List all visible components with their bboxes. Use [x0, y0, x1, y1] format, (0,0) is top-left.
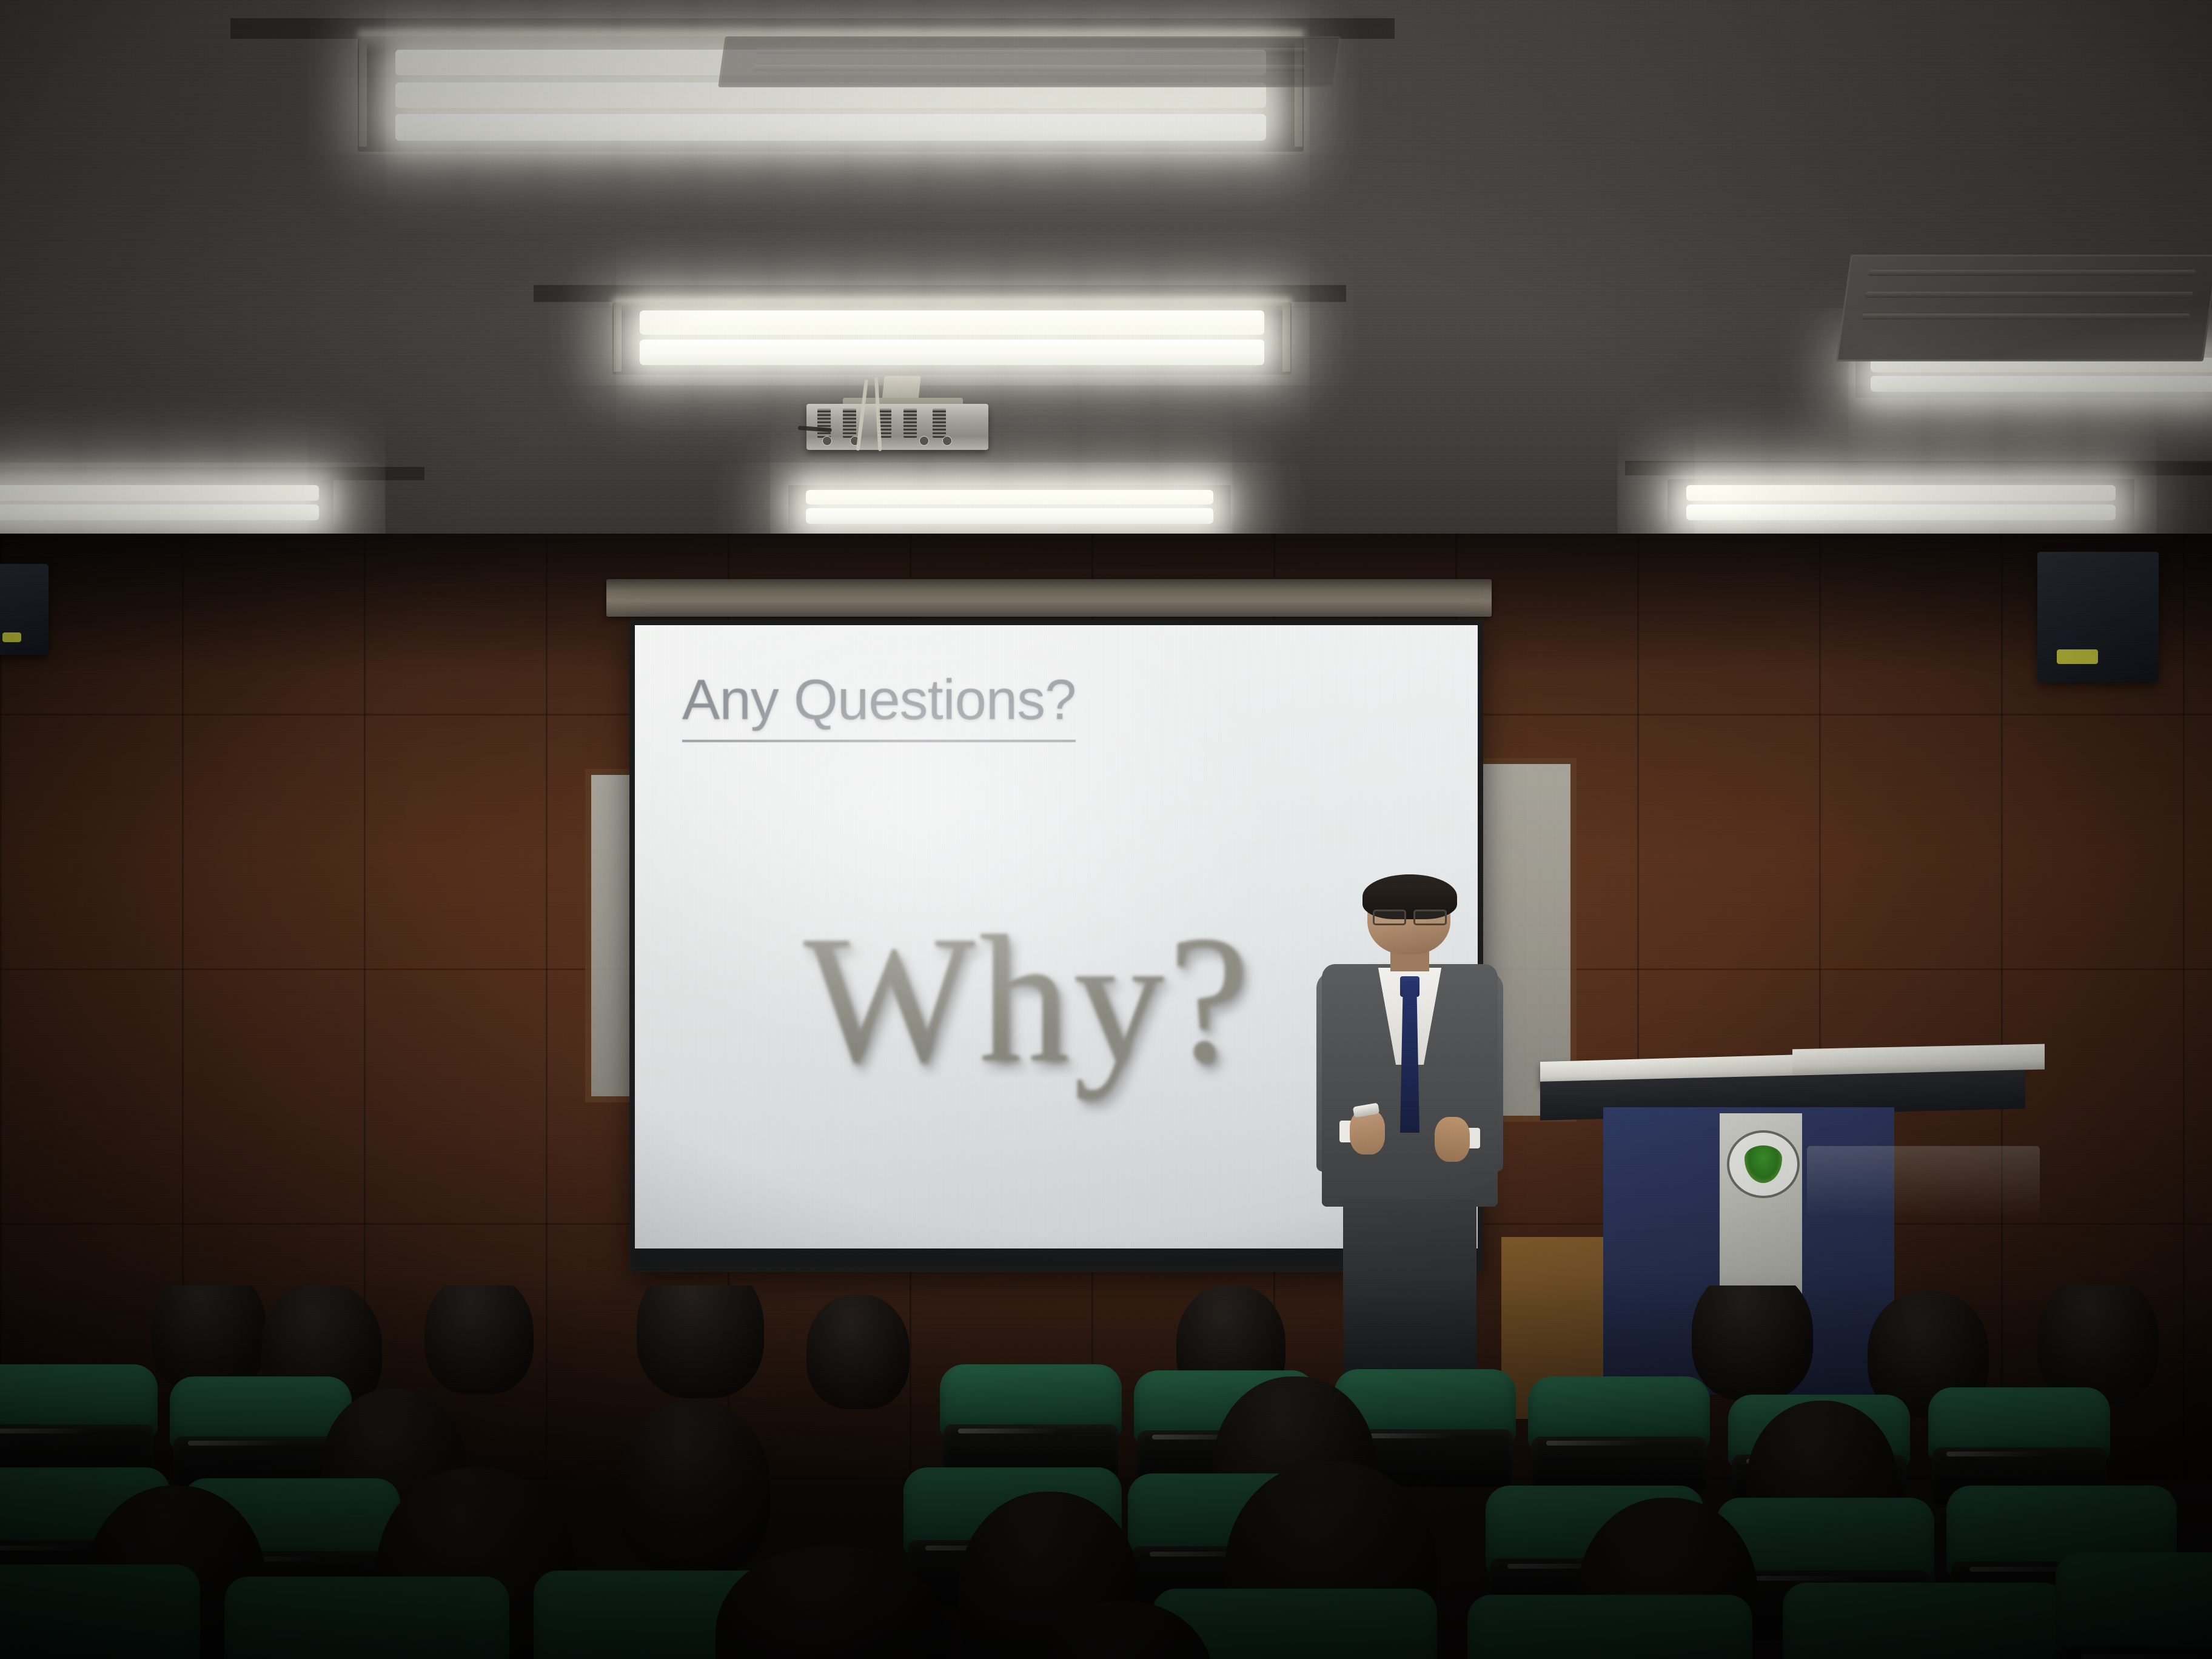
- vent-blade: [1862, 313, 2190, 320]
- projector-vent: [817, 409, 831, 438]
- seat-highlight: [0, 1546, 93, 1550]
- vent-blade: [752, 65, 1304, 71]
- light-fixture-mid-center: [612, 302, 1292, 375]
- ceiling-projector: [806, 376, 988, 461]
- projector-vent: [933, 409, 946, 438]
- glasses-right-lens: [1413, 910, 1447, 925]
- auditorium-seat: [1528, 1376, 1710, 1492]
- ceiling: [0, 0, 2212, 582]
- podium-rail-shadow: [1807, 1146, 2040, 1219]
- projector-knob: [822, 436, 832, 446]
- wall-speaker-right: [2037, 552, 2159, 682]
- auditorium-seat: [224, 1577, 509, 1659]
- slide-title: Any Questions?: [682, 667, 1076, 742]
- fluorescent-tube: [640, 340, 1264, 365]
- fluorescent-tube: [1686, 485, 2116, 501]
- fixture-endcap-right: [1282, 305, 1290, 372]
- auditorium-seat: [940, 1364, 1122, 1480]
- attendee-head: [637, 1285, 764, 1398]
- auditorium-seat: [1783, 1583, 2068, 1659]
- seat-highlight: [2081, 1654, 2212, 1659]
- auditorium-seat: [1467, 1595, 1752, 1659]
- projector-vent: [903, 409, 917, 438]
- auditorium-seat: [0, 1564, 200, 1659]
- fixture-endcap-left: [614, 305, 622, 372]
- fluorescent-tube: [0, 485, 319, 501]
- glasses-icon: [1373, 910, 1447, 922]
- fluorescent-tube: [395, 114, 1265, 141]
- attendee-head: [806, 1294, 910, 1409]
- fluorescent-tube: [806, 490, 1213, 504]
- vent-blade: [755, 48, 1307, 54]
- fluorescent-tube: [1686, 504, 2116, 520]
- seat-back: [0, 1564, 200, 1659]
- ac-vent-front: [718, 36, 1341, 87]
- ceiling-beam-right: [1625, 461, 2212, 475]
- projector-body: [806, 404, 988, 450]
- seat-highlight: [1946, 1452, 2046, 1456]
- institution-logo-icon: [1727, 1130, 1800, 1198]
- wall-speaker-left: [0, 564, 49, 655]
- light-fixture-far-right-lower: [1667, 479, 2134, 526]
- auditorium-seat: [0, 1364, 158, 1480]
- slide-body-text: Why?: [803, 908, 1252, 1090]
- seat-highlight: [1546, 1441, 1646, 1446]
- seat-highlight: [188, 1441, 288, 1446]
- fixture-endcap-left: [359, 41, 367, 147]
- logo-leaf-shape: [1744, 1145, 1783, 1183]
- presenter-right-hand: [1435, 1117, 1470, 1162]
- projector-vent: [843, 409, 856, 438]
- light-fixture-stage-center: [788, 485, 1231, 529]
- seat-back: [2056, 1552, 2212, 1659]
- fluorescent-tube: [0, 504, 319, 520]
- seat-back: [1783, 1583, 2068, 1659]
- attendee-head: [424, 1285, 534, 1395]
- ceiling-beam-left: [0, 467, 424, 480]
- attendee-head: [1692, 1285, 1813, 1401]
- seat-highlight: [958, 1429, 1058, 1433]
- seat-back: [224, 1577, 509, 1659]
- vent-blade: [1865, 292, 2193, 298]
- projection-screen-roller: [606, 579, 1492, 617]
- glasses-left-lens: [1373, 910, 1406, 925]
- speaker-label: [2, 632, 21, 643]
- fluorescent-tube: [640, 310, 1264, 335]
- light-fixture-far-left: [0, 479, 333, 526]
- auditorium-seat: [2056, 1552, 2212, 1659]
- seat-highlight: [0, 1429, 94, 1433]
- attendee-head: [618, 1401, 770, 1577]
- vent-blade: [1868, 270, 2196, 276]
- seat-back: [1467, 1595, 1752, 1659]
- fluorescent-tube: [1871, 376, 2212, 392]
- projector-knob: [919, 436, 929, 446]
- ac-vent-right: [1836, 255, 2212, 361]
- projector-knob: [942, 436, 952, 446]
- speaker-label: [2057, 649, 2098, 664]
- audience-seating: [0, 1285, 2212, 1659]
- fixture-rim: [612, 298, 1292, 311]
- lecture-hall-photo: Any Questions? Why?: [0, 0, 2212, 1659]
- fluorescent-tube: [806, 508, 1213, 524]
